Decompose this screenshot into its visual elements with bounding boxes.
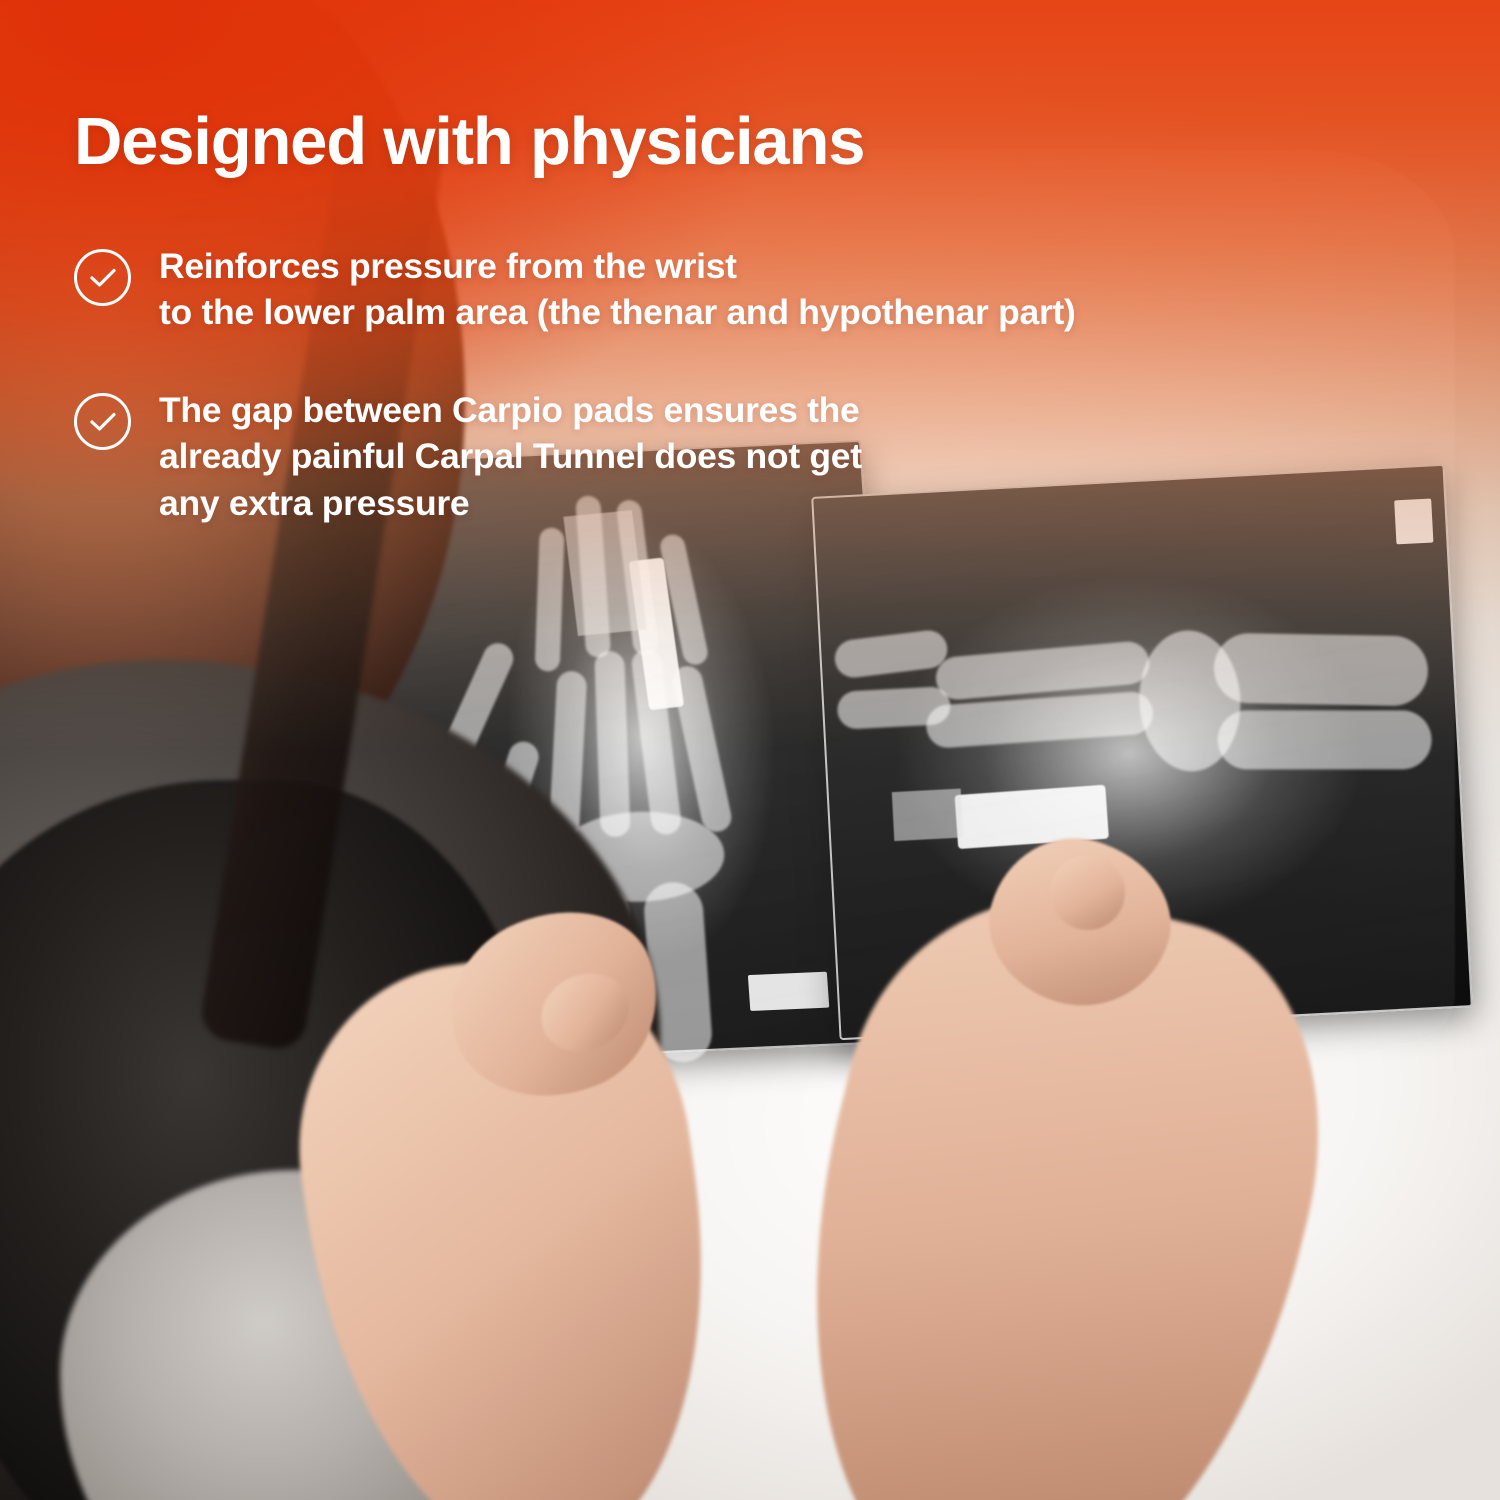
list-item-label: Reinforces pressure from the wrist to th… <box>159 243 1076 335</box>
feature-list: Reinforces pressure from the wrist to th… <box>74 243 1464 578</box>
list-item: Reinforces pressure from the wrist to th… <box>74 243 1464 335</box>
list-item-label: The gap between Carpio pads ensures the … <box>159 387 862 525</box>
list-item: The gap between Carpio pads ensures the … <box>74 387 1464 525</box>
marketing-image: Designed with physicians Reinforces pres… <box>0 0 1500 1500</box>
page-title: Designed with physicians <box>74 108 864 175</box>
check-circle-icon <box>74 393 131 450</box>
overlay-content: Designed with physicians Reinforces pres… <box>0 0 1500 1500</box>
check-circle-icon <box>74 249 131 306</box>
